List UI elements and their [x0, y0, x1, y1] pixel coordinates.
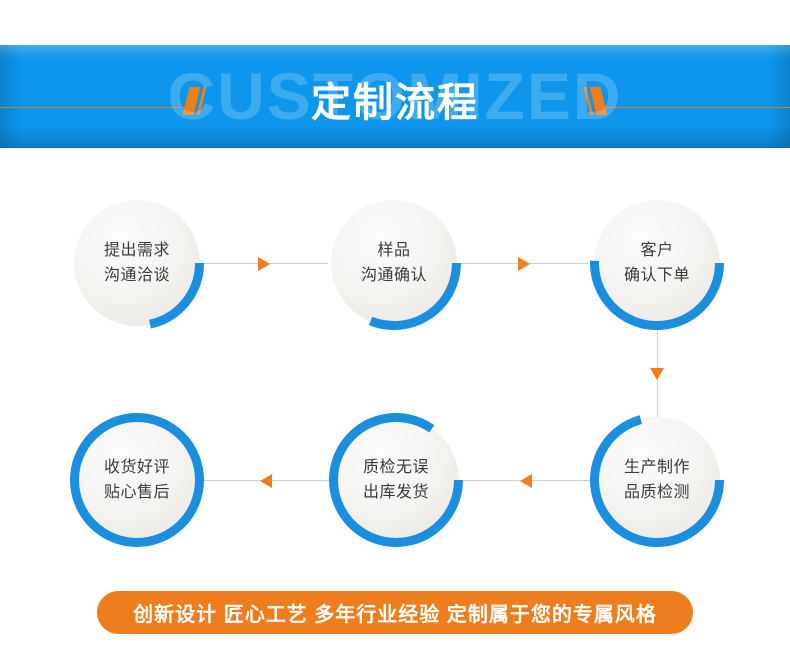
- flow-step-label-line1: 生产制作: [624, 455, 690, 480]
- flow-step-label-line1: 收货好评: [104, 455, 170, 480]
- flow-step-label-line1: 样品: [377, 238, 410, 263]
- flow-step-label: 质检无误 出库发货: [333, 417, 459, 543]
- connector-arrow-2-3: [518, 257, 530, 271]
- flow-step-label-line2: 确认下单: [624, 263, 690, 288]
- flow-step-label-line1: 质检无误: [363, 455, 429, 480]
- flow-step-label: 提出需求 沟通洽谈: [74, 200, 200, 326]
- process-flow-diagram: 提出需求 沟通洽谈 样品 沟通确认 客户 确认下单 生产制作 品: [0, 148, 790, 578]
- flow-step-label-line2: 出库发货: [363, 480, 429, 505]
- flow-step-label-line2: 品质检测: [624, 480, 690, 505]
- connector-arrow-3-4: [650, 368, 664, 380]
- connector-arrow-1-2: [258, 257, 270, 271]
- flow-step-label: 样品 沟通确认: [331, 200, 457, 326]
- page-title: 定制流程: [0, 81, 790, 125]
- flow-step-label-line1: 客户: [640, 238, 673, 263]
- flow-step-label-line2: 沟通确认: [361, 263, 427, 288]
- connector-arrow-4-5: [520, 474, 532, 488]
- flow-step-label: 收货好评 贴心售后: [74, 417, 200, 543]
- flow-step-6[interactable]: 收货好评 贴心售后: [74, 417, 200, 543]
- flow-step-2[interactable]: 样品 沟通确认: [331, 200, 457, 326]
- flow-step-3[interactable]: 客户 确认下单: [594, 200, 720, 326]
- connector-arrow-5-6: [260, 474, 272, 488]
- flow-step-5[interactable]: 质检无误 出库发货: [333, 417, 459, 543]
- footer-slogan-text: 创新设计 匠心工艺 多年行业经验 定制属于您的专属风格: [133, 598, 657, 627]
- flow-step-label-line2: 沟通洽谈: [104, 263, 170, 288]
- flow-step-label: 客户 确认下单: [594, 200, 720, 326]
- footer-slogan-banner: 创新设计 匠心工艺 多年行业经验 定制属于您的专属风格: [97, 591, 693, 634]
- flow-step-label-line2: 贴心售后: [104, 480, 170, 505]
- flow-step-label-line1: 提出需求: [104, 238, 170, 263]
- flow-step-1[interactable]: 提出需求 沟通洽谈: [74, 200, 200, 326]
- page-header-banner: CUSTOMIZED 定制流程: [0, 45, 790, 148]
- flow-step-label: 生产制作 品质检测: [594, 417, 720, 543]
- flow-step-4[interactable]: 生产制作 品质检测: [594, 417, 720, 543]
